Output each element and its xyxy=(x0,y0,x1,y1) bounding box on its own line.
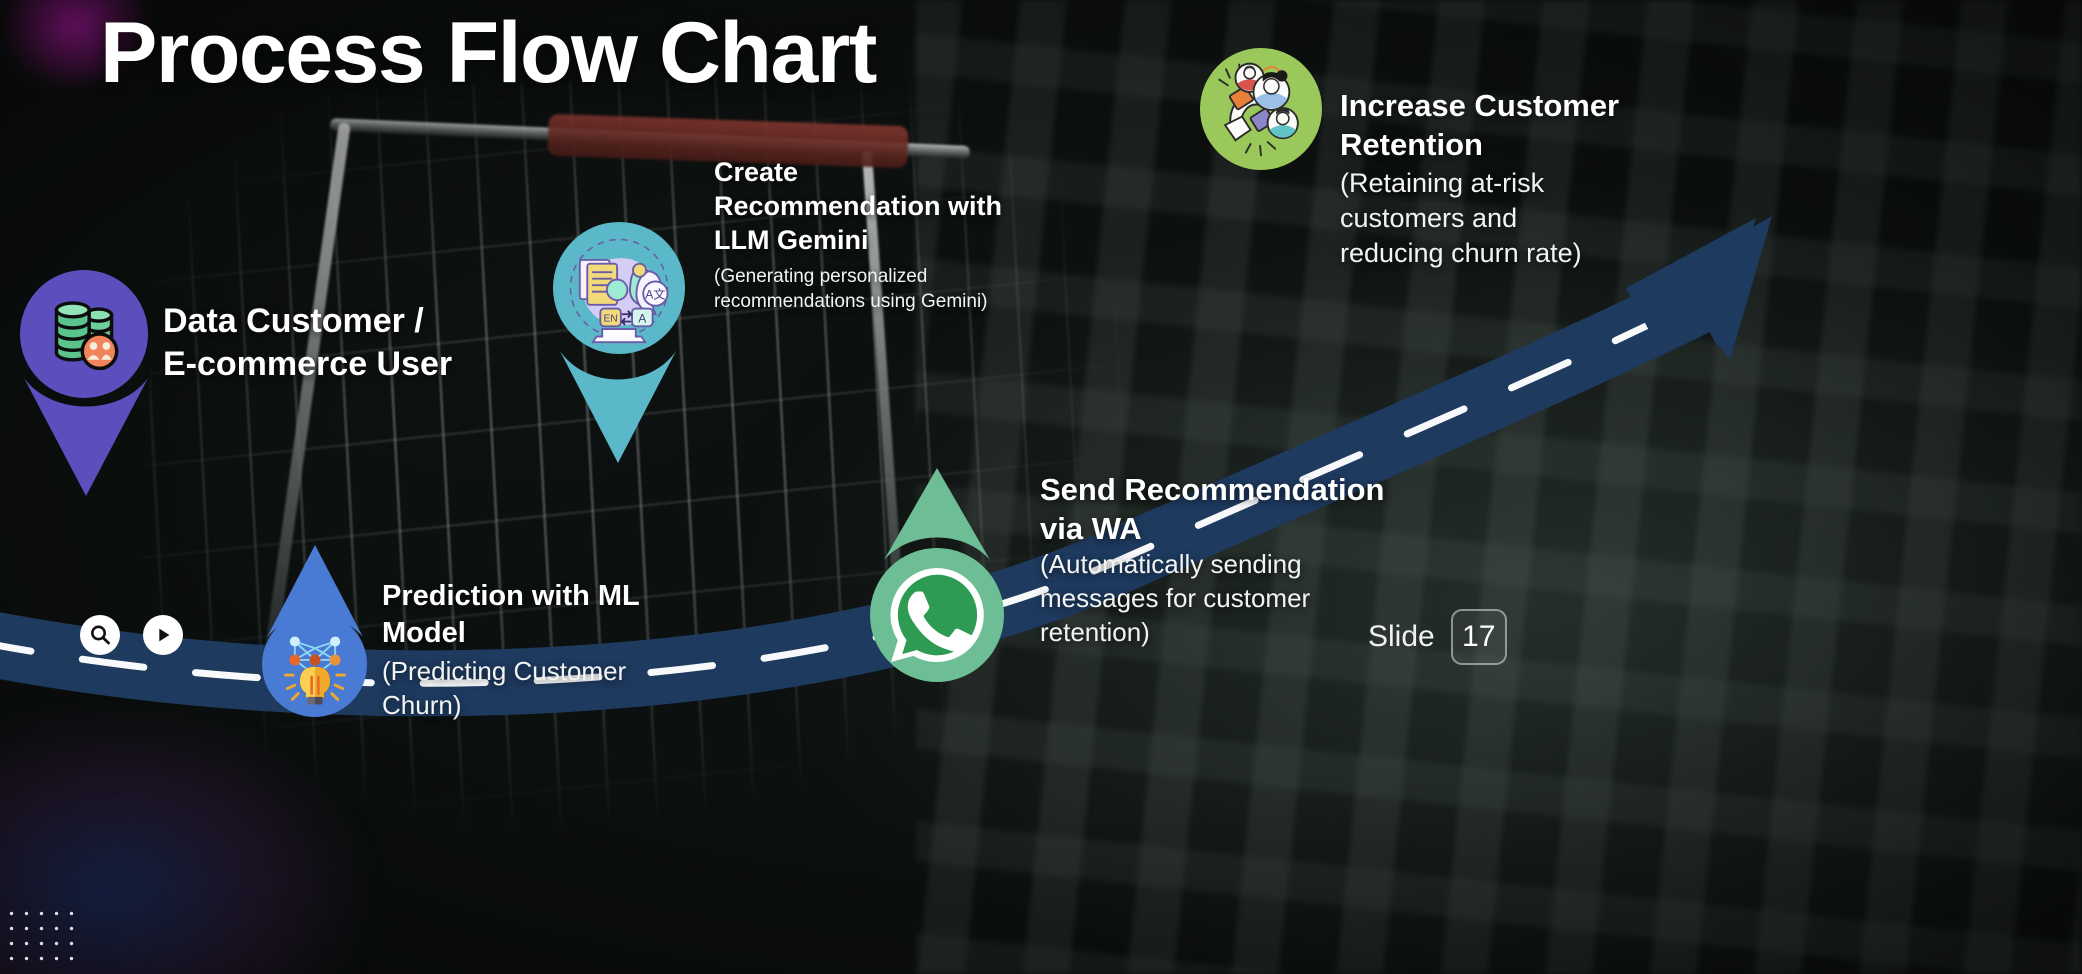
prediction-title-line1: Prediction with ML xyxy=(382,578,712,615)
send-rec-title-line2: via WA xyxy=(1040,509,1460,548)
neural-network-lightbulb-icon xyxy=(273,623,357,707)
language-translation-ai-icon: A文 EN A xyxy=(563,232,675,344)
retention-sub-line3: reducing churn rate) xyxy=(1340,236,1740,271)
increase-retention-circle xyxy=(1200,48,1322,170)
send-recommendation-title: Send Recommendation via WA xyxy=(1040,470,1460,548)
data-customer-title-line1: Data Customer / xyxy=(163,300,563,343)
create-recommendation-subtitle: (Generating personalized recommendations… xyxy=(714,265,1034,314)
send-rec-sub-line2: messages for customer xyxy=(1040,582,1370,616)
create-rec-sub-line1: (Generating personalized xyxy=(714,265,1034,290)
svg-text:A文: A文 xyxy=(645,286,665,301)
retention-title-line2: Retention xyxy=(1340,125,1760,164)
prediction-title-line2: Model xyxy=(382,615,712,652)
database-customers-icon xyxy=(41,291,127,377)
data-customer-title-line2: E-commerce User xyxy=(163,343,563,386)
prediction-ml-title: Prediction with ML Model xyxy=(382,578,712,651)
play-icon xyxy=(152,624,174,646)
create-rec-title-line2: Recommendation with xyxy=(714,189,1044,223)
send-recommendation-circle xyxy=(870,548,1004,682)
play-button[interactable] xyxy=(143,615,183,655)
data-customer-circle xyxy=(20,270,148,398)
retention-title-line1: Increase Customer xyxy=(1340,86,1760,125)
slide-label: Slide xyxy=(1368,620,1435,654)
slide-canvas: Process Flow Chart xyxy=(0,0,2082,974)
send-rec-sub-line3: retention) xyxy=(1040,616,1370,650)
create-rec-title-line1: Create xyxy=(714,155,1044,189)
search-button[interactable] xyxy=(80,615,120,655)
magnet-customers-icon xyxy=(1209,57,1313,161)
prediction-sub-line2: Churn) xyxy=(382,689,712,723)
dot-grid-decoration xyxy=(4,906,82,968)
create-rec-sub-line2: recommendations using Gemini) xyxy=(714,290,1034,315)
whatsapp-icon xyxy=(881,559,993,671)
search-icon xyxy=(88,623,112,647)
increase-retention-title: Increase Customer Retention xyxy=(1340,86,1760,164)
prediction-ml-circle xyxy=(262,612,367,717)
slide-indicator: Slide 17 xyxy=(1368,609,1507,665)
prediction-sub-line1: (Predicting Customer xyxy=(382,655,712,689)
create-recommendation-circle: A文 EN A xyxy=(553,222,685,354)
increase-retention-subtitle: (Retaining at-risk customers and reducin… xyxy=(1340,166,1740,271)
send-rec-sub-line1: (Automatically sending xyxy=(1040,548,1370,582)
data-customer-title: Data Customer / E-commerce User xyxy=(163,300,563,386)
retention-sub-line2: customers and xyxy=(1340,201,1740,236)
create-rec-title-line3: LLM Gemini xyxy=(714,223,1044,257)
slide-number-box[interactable]: 17 xyxy=(1451,609,1507,665)
pointer-down-teal xyxy=(558,345,678,465)
send-recommendation-subtitle: (Automatically sending messages for cust… xyxy=(1040,548,1370,649)
retention-sub-line1: (Retaining at-risk xyxy=(1340,166,1740,201)
svg-text:A: A xyxy=(638,312,647,326)
svg-text:EN: EN xyxy=(603,314,617,325)
create-recommendation-title: Create Recommendation with LLM Gemini xyxy=(714,155,1044,257)
send-rec-title-line1: Send Recommendation xyxy=(1040,470,1460,509)
prediction-ml-subtitle: (Predicting Customer Churn) xyxy=(382,655,712,723)
